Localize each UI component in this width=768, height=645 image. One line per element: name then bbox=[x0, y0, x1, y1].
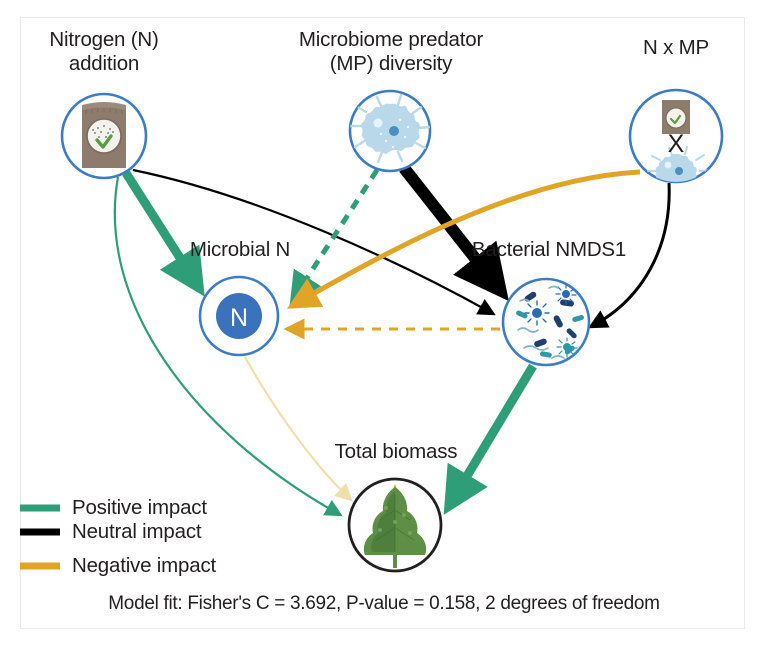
fertilizer-bag-icon bbox=[82, 102, 126, 168]
node-mp-diversity[interactable] bbox=[350, 91, 430, 171]
node-bacterial-nmds1[interactable] bbox=[503, 279, 589, 365]
legend-label-positive: Positive impact bbox=[72, 496, 207, 520]
sem-path-diagram: X N bbox=[0, 0, 768, 645]
model-fit-text: Model fit: Fisher's C = 3.692, P-value =… bbox=[0, 593, 768, 615]
legend-label-negative: Negative impact bbox=[72, 554, 216, 578]
legend-swatches bbox=[20, 508, 60, 566]
interaction-symbol: X bbox=[668, 130, 685, 158]
edge-mp-diversity-to-bacterial-nmds1 bbox=[404, 168, 497, 286]
node-label-nitrogen-addition: Nitrogen (N) addition bbox=[14, 28, 194, 76]
node-microbial-n[interactable]: N bbox=[200, 277, 278, 355]
legend-label-neutral: Neutral impact bbox=[72, 520, 201, 544]
node-label-mp-diversity: Microbiome predator (MP) diversity bbox=[272, 28, 510, 76]
node-label-bacterial-nmds1: Bacterial NMDS1 bbox=[442, 238, 656, 262]
node-nitrogen-addition[interactable] bbox=[62, 94, 146, 178]
node-n-x-mp[interactable]: X bbox=[630, 90, 722, 197]
node-total-biomass[interactable] bbox=[349, 479, 441, 571]
node-label-n-x-mp: N x MP bbox=[608, 36, 744, 60]
diagram-canvas: X N bbox=[0, 0, 768, 645]
fertilizer-bag-small-icon bbox=[662, 100, 690, 134]
node-label-total-biomass: Total biomass bbox=[308, 440, 484, 464]
node-label-microbial-n: Microbial N bbox=[155, 238, 325, 262]
edge-bacterial-nmds1-to-total-biomass bbox=[452, 366, 533, 501]
edge-mp-diversity-to-microbial-n bbox=[296, 170, 377, 295]
microbial-n-symbol: N bbox=[230, 304, 248, 332]
edge-nitrogen-to-microbial-n bbox=[126, 173, 196, 283]
edge-microbial-n-to-total-biomass bbox=[245, 357, 348, 497]
bacteria-spiky-icon bbox=[525, 301, 549, 325]
